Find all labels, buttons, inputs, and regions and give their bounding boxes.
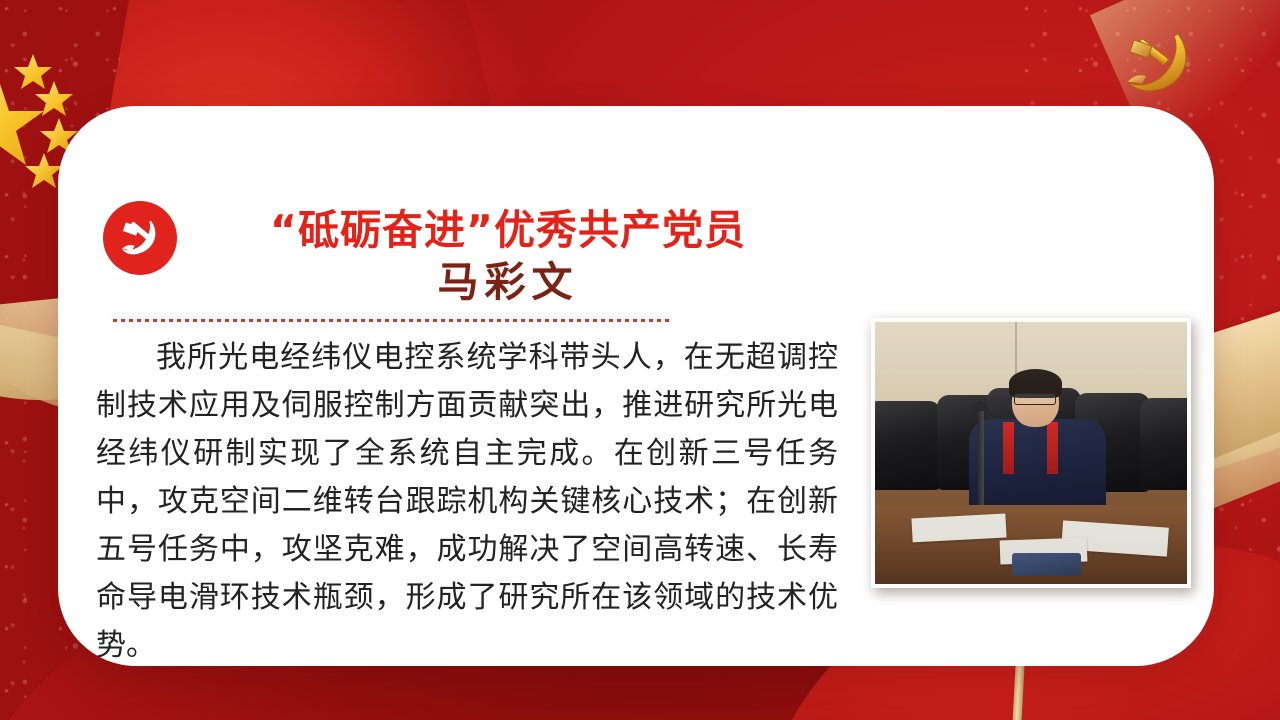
photo-shading — [875, 322, 1187, 584]
flag-star-small-1 — [14, 54, 52, 89]
page-title: “砥砺奋进”优秀共产党员 — [198, 206, 818, 254]
body-paragraph: 我所光电经纬仪电控系统学科带头人，在无超调控制技术应用及伺服控制方面贡献突出，推… — [96, 334, 838, 670]
slide-root: “砥砺奋进”优秀共产党员 马彩文 我所光电经纬仪电控系统学科带头人，在无超调控制… — [0, 0, 1280, 720]
flag-star-large — [0, 78, 44, 165]
person-photo — [871, 318, 1191, 588]
party-emblem-hammer-sickle-icon — [1108, 24, 1204, 104]
photo-content — [875, 322, 1187, 584]
hammer-shape — [1130, 38, 1169, 65]
content-card: “砥砺奋进”优秀共产党员 马彩文 我所光电经纬仪电控系统学科带头人，在无超调控制… — [58, 106, 1214, 666]
hammer-sickle-icon — [103, 201, 177, 275]
person-name: 马彩文 — [198, 258, 818, 307]
flag-star-small-2 — [35, 81, 73, 116]
hammer-sickle-svg — [115, 213, 165, 263]
dotted-divider — [113, 319, 673, 322]
